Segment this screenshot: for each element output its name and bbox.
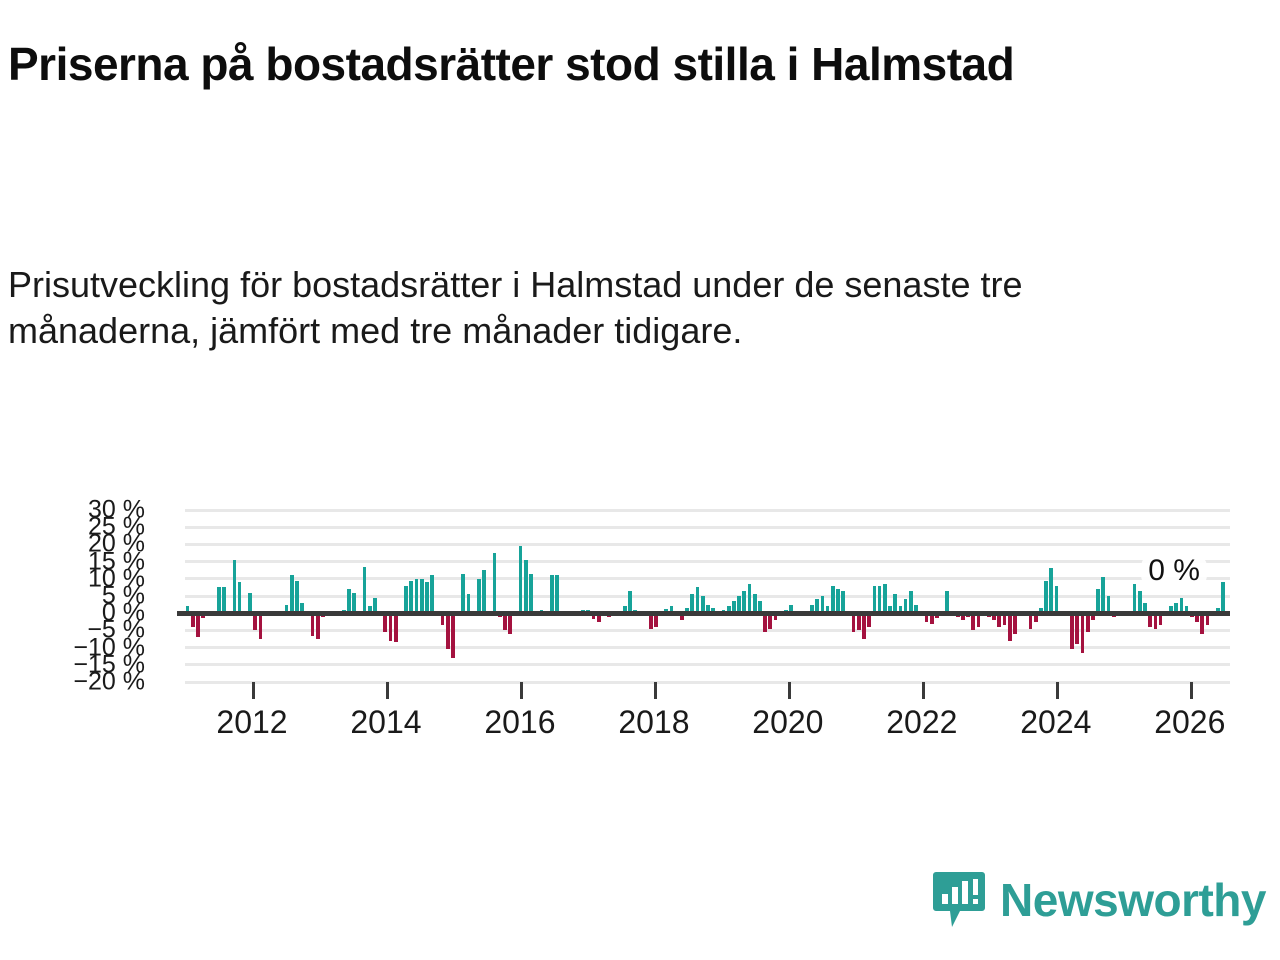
bar-slot — [1226, 510, 1231, 682]
bar-positive — [831, 586, 835, 614]
bar-positive — [415, 579, 419, 613]
x-axis-tick-label: 2012 — [216, 704, 287, 741]
bar-chart-speech-bubble-icon — [932, 870, 986, 930]
bar-negative — [1086, 613, 1090, 632]
bar-series — [185, 510, 1230, 682]
last-value-label: 0 % — [1141, 553, 1207, 589]
chart-container: 30 %25 %20 %15 %10 %5 %0 %−5 %−10 %−15 %… — [0, 495, 1280, 765]
page-title: Priserna på bostadsrätter stod stilla i … — [8, 38, 1148, 90]
x-axis-tick — [1190, 682, 1193, 699]
infographic-page: Priserna på bostadsrätter stod stilla i … — [0, 0, 1280, 960]
bar-negative — [1200, 613, 1204, 634]
logo-wordmark: Newsworthy — [1000, 873, 1266, 927]
y-axis-tick-label: −20 % — [73, 668, 145, 697]
bar-positive — [1044, 581, 1048, 614]
bar-positive — [461, 574, 465, 614]
bar-positive — [555, 575, 559, 613]
x-axis-tick-label: 2016 — [484, 704, 555, 741]
bar-positive — [519, 546, 523, 613]
bar-positive — [409, 581, 413, 614]
bar-negative — [763, 613, 767, 632]
x-axis-tick-label: 2014 — [350, 704, 421, 741]
bar-positive — [696, 587, 700, 613]
bar-positive — [217, 587, 221, 613]
bar-negative — [503, 613, 507, 630]
bar-negative — [259, 613, 263, 639]
x-axis-tick — [788, 682, 791, 699]
bar-negative — [1070, 613, 1074, 649]
bar-negative — [508, 613, 512, 634]
x-axis-tick-label: 2026 — [1154, 704, 1225, 741]
bar-positive — [477, 579, 481, 613]
y-axis-labels: 30 %25 %20 %15 %10 %5 %0 %−5 %−10 %−15 %… — [0, 495, 185, 705]
bar-positive — [222, 587, 226, 613]
newsworthy-logo[interactable]: Newsworthy — [932, 870, 1266, 930]
bar-positive — [1101, 577, 1105, 613]
bar-positive — [748, 584, 752, 613]
bar-positive — [425, 582, 429, 613]
bar-negative — [389, 613, 393, 641]
bar-positive — [430, 575, 434, 613]
bar-negative — [1013, 613, 1017, 634]
x-axis-tick — [520, 682, 523, 699]
bar-positive — [404, 586, 408, 614]
bar-positive — [295, 581, 299, 614]
x-axis-tick — [1056, 682, 1059, 699]
bar-positive — [493, 553, 497, 613]
x-axis-tick — [252, 682, 255, 699]
bar-positive — [290, 575, 294, 613]
bar-positive — [883, 584, 887, 613]
x-axis-tick-label: 2024 — [1020, 704, 1091, 741]
bar-negative — [857, 613, 861, 630]
bar-positive — [550, 575, 554, 613]
bar-positive — [524, 560, 528, 613]
bar-negative — [451, 613, 455, 658]
bar-negative — [1008, 613, 1012, 641]
bar-negative — [383, 613, 387, 632]
bar-positive — [1049, 568, 1053, 613]
x-axis-tick-label: 2018 — [618, 704, 689, 741]
bar-positive — [1055, 586, 1059, 614]
bar-negative — [852, 613, 856, 632]
x-axis-tick — [922, 682, 925, 699]
bar-positive — [233, 560, 237, 613]
bar-negative — [971, 613, 975, 630]
x-axis: 20122014201620182020202220242026 — [185, 682, 1230, 762]
bar-negative — [394, 613, 398, 642]
bar-positive — [347, 589, 351, 613]
x-axis-tick — [654, 682, 657, 699]
x-axis-tick-label: 2022 — [886, 704, 957, 741]
bar-negative — [316, 613, 320, 639]
bar-negative — [1075, 613, 1079, 644]
bar-positive — [836, 589, 840, 613]
bar-negative — [311, 613, 315, 635]
bar-negative — [1081, 613, 1085, 653]
bar-negative — [253, 613, 257, 630]
bar-positive — [1096, 589, 1100, 613]
bar-positive — [238, 582, 242, 613]
bar-negative — [196, 613, 200, 637]
page-subtitle: Prisutveckling för bostadsrätter i Halms… — [8, 262, 1188, 354]
zero-line — [177, 611, 1230, 616]
bar-positive — [363, 567, 367, 613]
bar-positive — [482, 570, 486, 613]
bar-positive — [878, 586, 882, 614]
bar-negative — [862, 613, 866, 639]
x-axis-tick-label: 2020 — [752, 704, 823, 741]
x-axis-tick — [386, 682, 389, 699]
bar-positive — [873, 586, 877, 614]
bar-positive — [529, 574, 533, 614]
bar-positive — [1221, 582, 1225, 613]
plot-area: 0 % — [185, 510, 1230, 682]
bar-negative — [446, 613, 450, 649]
bar-positive — [1133, 584, 1137, 613]
bar-positive — [420, 579, 424, 613]
